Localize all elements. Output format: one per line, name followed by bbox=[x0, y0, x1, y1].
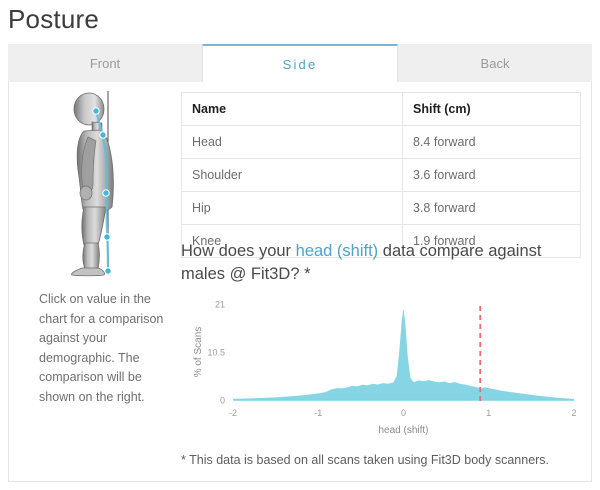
tab-front[interactable]: Front bbox=[8, 44, 202, 82]
marker-hip bbox=[103, 189, 109, 195]
marker-shoulder bbox=[100, 131, 106, 137]
marker-knee bbox=[104, 233, 110, 239]
x-tick-label: -2 bbox=[229, 408, 237, 418]
cell-name: Head bbox=[182, 126, 403, 159]
x-tick-label: 2 bbox=[571, 408, 576, 418]
tab-back[interactable]: Back bbox=[398, 44, 592, 82]
comparison-question: How does your head (shift) data compare … bbox=[181, 240, 581, 286]
left-column: Click on value in the chart for a compar… bbox=[23, 82, 173, 282]
question-part-1: How does your bbox=[181, 242, 296, 260]
tab-side[interactable]: Side bbox=[202, 44, 398, 82]
question-highlight: head (shift) bbox=[296, 242, 379, 260]
posture-content-panel: Click on value in the chart for a compar… bbox=[8, 82, 592, 482]
y-tick-label: 10.5 bbox=[207, 348, 225, 358]
y-axis-title: % of Scans bbox=[193, 327, 204, 378]
column-header-shift: Shift (cm) bbox=[403, 93, 581, 126]
tab-back-label: Back bbox=[481, 56, 510, 71]
table-row[interactable]: Head 8.4 forward bbox=[182, 126, 581, 159]
tab-side-label: Side bbox=[283, 57, 318, 72]
x-axis-title: head (shift) bbox=[378, 425, 428, 436]
cell-shift[interactable]: 3.6 forward bbox=[403, 159, 581, 192]
tab-front-label: Front bbox=[90, 56, 120, 71]
posture-page: Posture Front Side Back bbox=[0, 0, 600, 490]
avatar bbox=[23, 82, 173, 282]
column-header-name: Name bbox=[182, 93, 403, 126]
cell-name: Shoulder bbox=[182, 159, 403, 192]
distribution-chart-svg[interactable]: 010.521% of Scans-2-1012head (shift) bbox=[189, 294, 584, 436]
x-tick-label: 0 bbox=[401, 408, 406, 418]
y-tick-label: 0 bbox=[220, 396, 225, 406]
marker-head bbox=[93, 107, 99, 113]
page-title: Posture bbox=[8, 2, 99, 36]
cell-shift[interactable]: 3.8 forward bbox=[403, 192, 581, 225]
chart-footnote: * This data is based on all scans taken … bbox=[181, 453, 581, 467]
table-header-row: Name Shift (cm) bbox=[182, 93, 581, 126]
table-row[interactable]: Shoulder 3.6 forward bbox=[182, 159, 581, 192]
cell-name: Hip bbox=[182, 192, 403, 225]
marker-ankle bbox=[105, 267, 111, 273]
x-tick-label: 1 bbox=[486, 408, 491, 418]
chart-interaction-hint: Click on value in the chart for a compar… bbox=[39, 290, 179, 407]
distribution-area[interactable] bbox=[233, 309, 574, 400]
table-row[interactable]: Hip 3.8 forward bbox=[182, 192, 581, 225]
side-profile-body-avatar-icon bbox=[48, 85, 148, 280]
cell-shift[interactable]: 8.4 forward bbox=[403, 126, 581, 159]
y-tick-label: 21 bbox=[215, 300, 225, 310]
distribution-chart[interactable]: 010.521% of Scans-2-1012head (shift) bbox=[189, 294, 584, 436]
posture-view-tabs: Front Side Back bbox=[8, 44, 592, 82]
x-tick-label: -1 bbox=[314, 408, 322, 418]
posture-measurements-table: Name Shift (cm) Head 8.4 forward Shoulde… bbox=[181, 92, 581, 258]
